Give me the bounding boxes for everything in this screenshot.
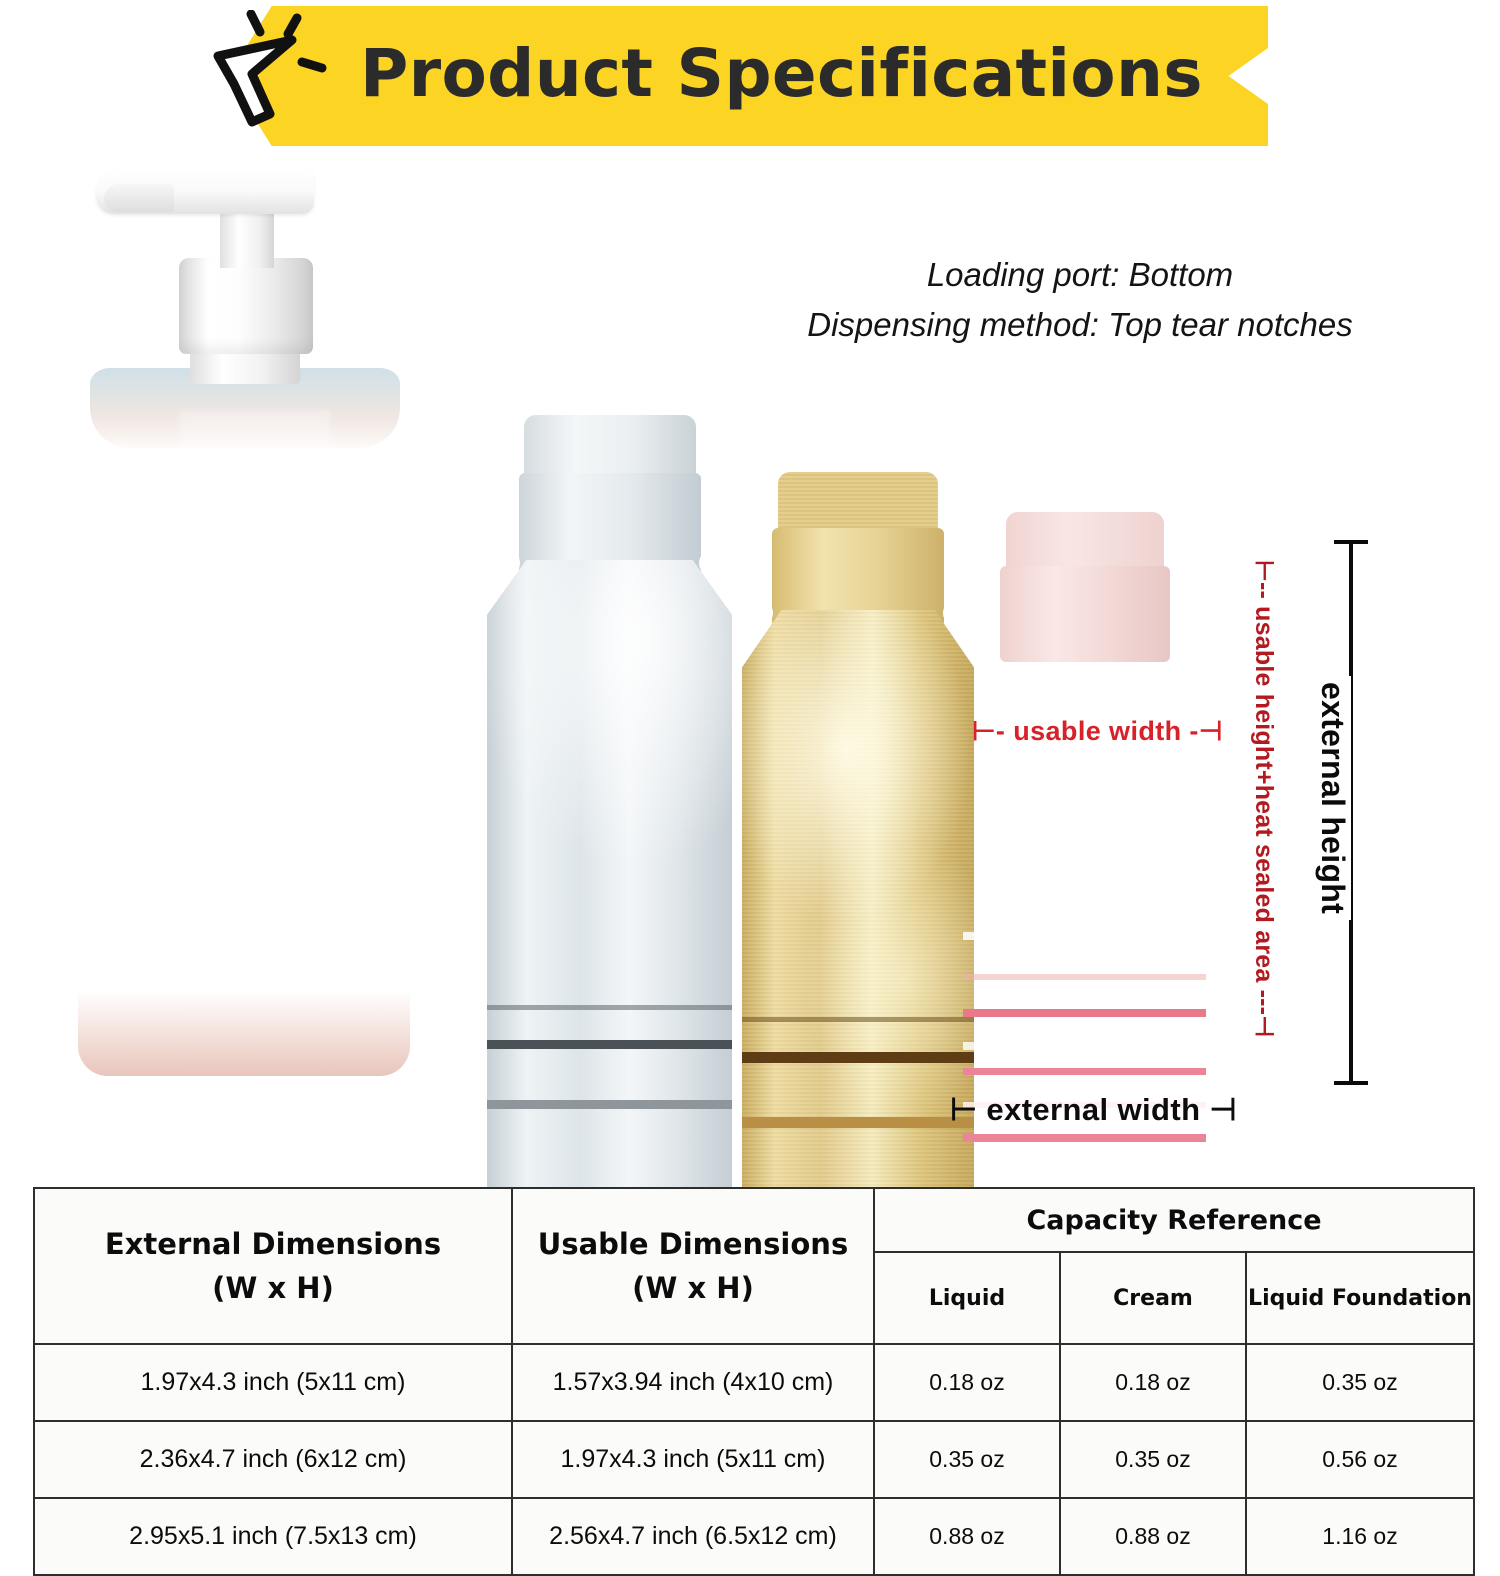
header-liquid: Liquid	[874, 1252, 1060, 1344]
cell-cream: 0.88 oz	[1060, 1498, 1246, 1575]
bottle-pump-collar	[179, 258, 313, 354]
pouch-seal-line	[742, 1052, 974, 1063]
external-height-annotation: external height	[1322, 540, 1382, 1085]
header-external-sub: (W x H)	[212, 1271, 334, 1305]
cell-usable: 2.56x4.7 inch (6.5x12 cm)	[512, 1498, 874, 1575]
cell-liquid-foundation: 0.35 oz	[1246, 1344, 1474, 1421]
cell-cream: 0.18 oz	[1060, 1344, 1246, 1421]
dispensing-method-text: Dispensing method: Top tear notches	[760, 300, 1400, 350]
pouch-seal-line	[963, 1134, 1206, 1142]
cell-liquid-foundation: 0.56 oz	[1246, 1421, 1474, 1498]
cell-liquid: 0.18 oz	[874, 1344, 1060, 1421]
header-capacity-reference: Capacity Reference	[874, 1188, 1474, 1252]
header-usable-dimensions: Usable Dimensions (W x H)	[512, 1188, 874, 1344]
product-info-text: Loading port: Bottom Dispensing method: …	[760, 250, 1400, 350]
cell-external: 2.36x4.7 inch (6x12 cm)	[34, 1421, 512, 1498]
pouch-seal-line	[963, 974, 1206, 980]
header-usable-sub: (W x H)	[632, 1271, 754, 1305]
cell-external: 1.97x4.3 inch (5x11 cm)	[34, 1344, 512, 1421]
pump-bottle-image	[60, 160, 460, 1090]
pouch-seal-line	[963, 932, 1206, 940]
cell-liquid: 0.35 oz	[874, 1421, 1060, 1498]
external-height-cap-top	[1334, 540, 1368, 544]
table-row: 2.95x5.1 inch (7.5x13 cm) 2.56x4.7 inch …	[34, 1498, 1474, 1575]
tear-notch-left-icon	[511, 555, 520, 571]
pouch-seal-line	[963, 1009, 1206, 1017]
tear-notch-right-icon	[699, 555, 708, 571]
table-row: 2.36x4.7 inch (6x12 cm) 1.97x4.3 inch (5…	[34, 1421, 1474, 1498]
pouch-body	[487, 560, 732, 1245]
external-height-cap-bottom	[1334, 1081, 1368, 1085]
pouch-seal-line	[963, 1042, 1206, 1050]
pink-pouch-image	[963, 512, 1206, 1247]
pouch-body	[742, 610, 974, 1247]
page-title: Product Specifications	[360, 24, 1220, 124]
table-header-row: External Dimensions (W x H) Usable Dimen…	[34, 1188, 1474, 1252]
usable-width-annotation: ⊢- usable width -⊣	[972, 716, 1223, 747]
header-cream: Cream	[1060, 1252, 1246, 1344]
tear-notch-left-icon	[985, 640, 994, 656]
cell-liquid: 0.88 oz	[874, 1498, 1060, 1575]
tear-notch-left-icon	[764, 605, 773, 621]
tear-notch-right-icon	[943, 605, 952, 621]
cell-usable: 1.57x3.94 inch (4x10 cm)	[512, 1344, 874, 1421]
silver-pouch-image	[487, 415, 732, 1245]
header-liquid-foundation: Liquid Foundation	[1246, 1252, 1474, 1344]
pouch-seal-line	[742, 1017, 974, 1022]
loading-port-text: Loading port: Bottom	[760, 250, 1400, 300]
bottle-liquid-sheen	[180, 410, 330, 1070]
usable-height-annotation: ⊢-- usable height+heat sealed area ---⊣	[1249, 560, 1279, 1100]
external-width-annotation: ⊢ external width ⊣	[950, 1092, 1237, 1128]
specifications-table: External Dimensions (W x H) Usable Dimen…	[33, 1187, 1475, 1576]
click-cursor-icon	[196, 10, 336, 130]
bottle-bottom-shade	[78, 990, 410, 1076]
header-external-label: External Dimensions	[105, 1227, 441, 1261]
external-height-label: external height	[1314, 676, 1351, 920]
cell-external: 2.95x5.1 inch (7.5x13 cm)	[34, 1498, 512, 1575]
header-usable-label: Usable Dimensions	[538, 1227, 848, 1261]
header-banner: Product Specifications	[0, 0, 1500, 160]
cell-liquid-foundation: 1.16 oz	[1246, 1498, 1474, 1575]
pouch-seal-line	[487, 1100, 732, 1109]
header-external-dimensions: External Dimensions (W x H)	[34, 1188, 512, 1344]
cell-cream: 0.35 oz	[1060, 1421, 1246, 1498]
bottle-pump-head	[96, 168, 314, 214]
pouch-seal-line	[742, 1117, 974, 1128]
pouch-seal-line	[487, 1040, 732, 1049]
gold-pouch-image	[742, 472, 974, 1247]
tear-notch-right-icon	[1175, 640, 1184, 656]
pouch-seal-line	[487, 1005, 732, 1010]
table-row: 1.97x4.3 inch (5x11 cm) 1.57x3.94 inch (…	[34, 1344, 1474, 1421]
cell-usable: 1.97x4.3 inch (5x11 cm)	[512, 1421, 874, 1498]
pouch-seal-line	[963, 1068, 1206, 1075]
